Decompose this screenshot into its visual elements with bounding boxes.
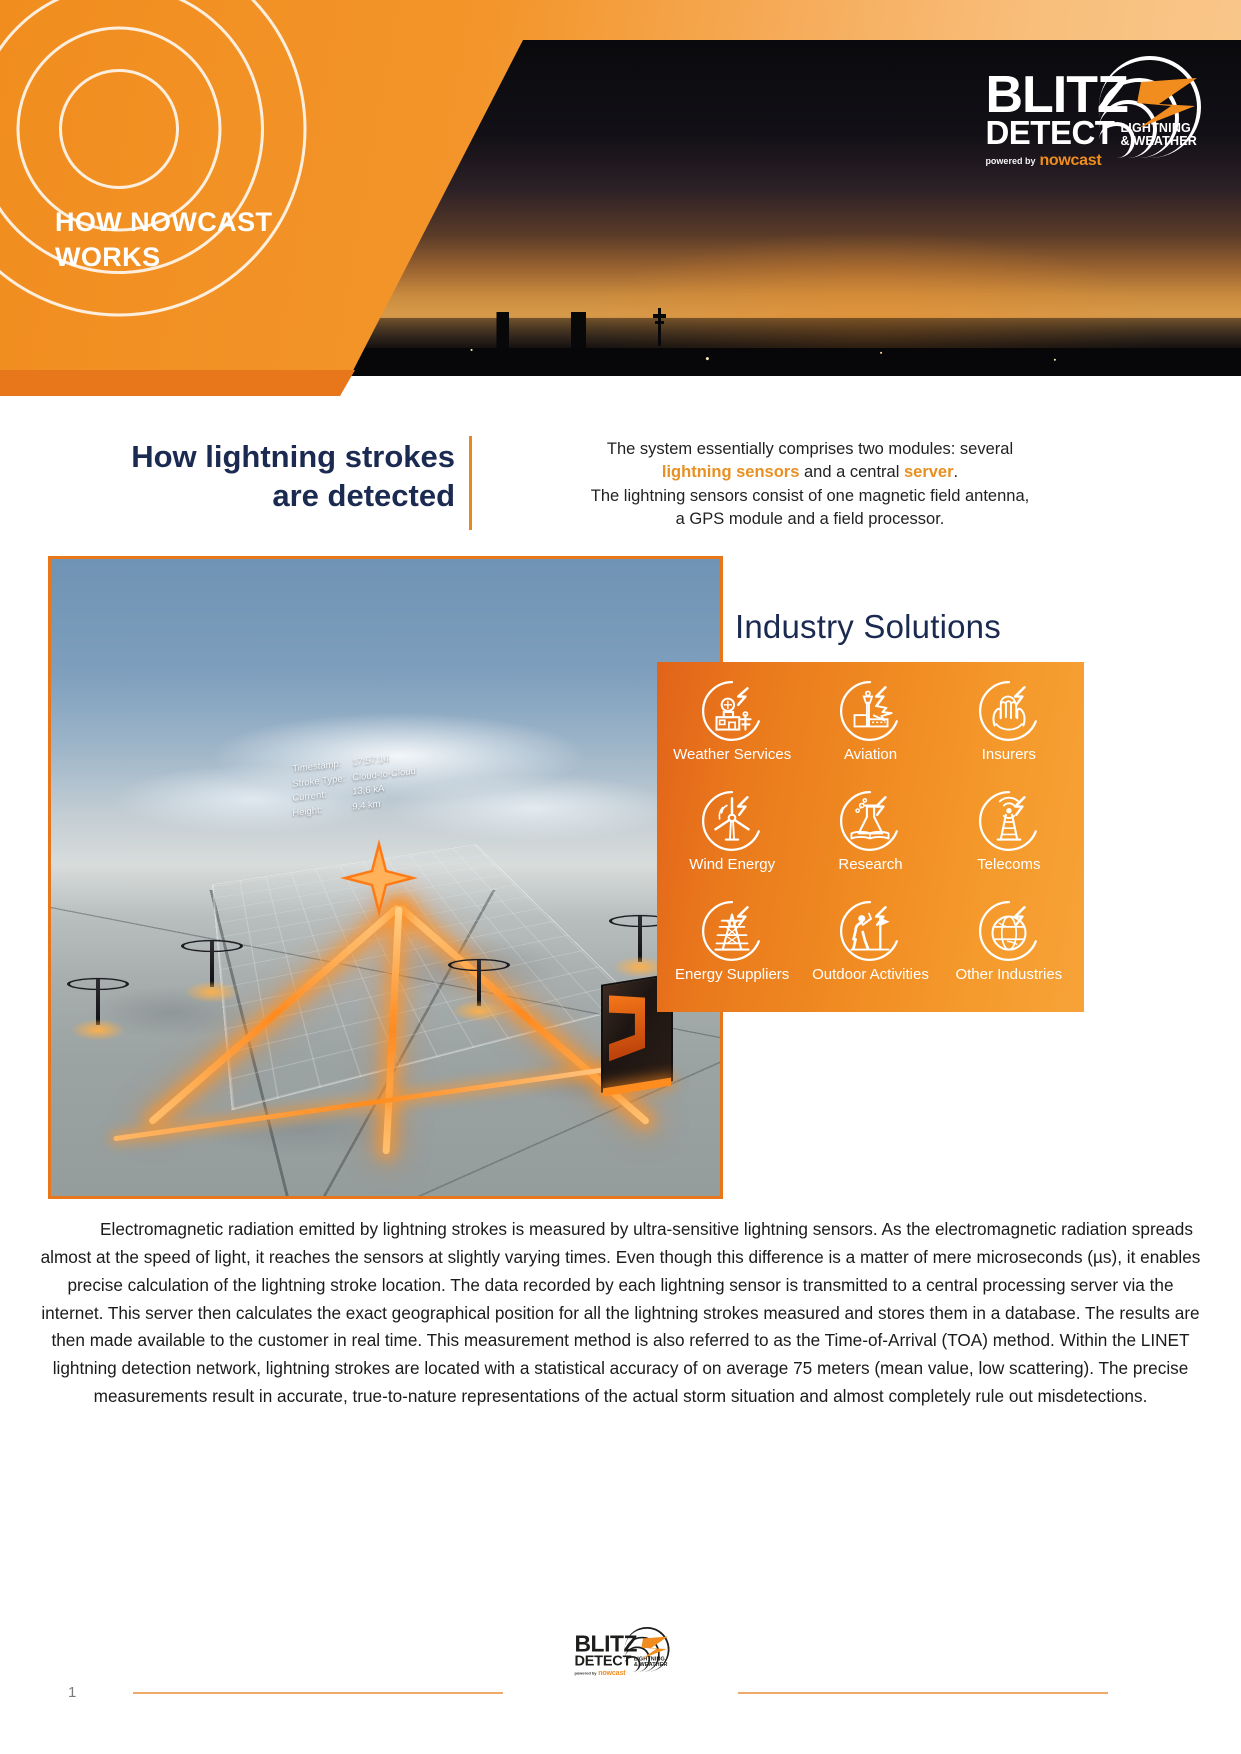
industry-item-research[interactable]: Research xyxy=(801,788,939,892)
brand-logo-header: BLITZ DETECT LIGHTNING & WEATHER powered… xyxy=(985,72,1197,170)
logo-powered-by: powered by nowcast xyxy=(985,152,1197,170)
globe-icon xyxy=(976,898,1042,964)
industry-item-telecoms[interactable]: Telecoms xyxy=(940,788,1078,892)
body-paragraph-text: Electromagnetic radiation emitted by lig… xyxy=(41,1219,1201,1406)
golfer-icon xyxy=(837,898,903,964)
industry-label: Energy Suppliers xyxy=(675,967,789,984)
logo-lightning-z-icon xyxy=(1137,76,1199,130)
industry-label: Aviation xyxy=(844,747,897,764)
section-heading: How lightning strokes are detected xyxy=(55,438,455,516)
section-title-block: How lightning strokes are detected The s… xyxy=(0,430,1241,550)
industry-item-aviation[interactable]: Aviation xyxy=(801,678,939,782)
page-title: HOW NOWCAST WORKS xyxy=(55,205,475,274)
wind-turbine-icon xyxy=(699,788,765,854)
radio-mast-icon xyxy=(976,788,1042,854)
footer-rule-left xyxy=(133,1692,503,1694)
intro-highlight-server: server xyxy=(904,463,954,481)
control-tower-icon xyxy=(837,678,903,744)
industry-label: Weather Services xyxy=(673,747,791,764)
signal-arcs-icon xyxy=(0,0,334,344)
industry-item-other-industries[interactable]: Other Industries xyxy=(940,898,1078,1002)
document-page: HOW NOWCAST WORKS BLITZ DETECT LIGHTNING… xyxy=(0,0,1241,1754)
logo-nowcast-text: nowcast xyxy=(1039,152,1101,170)
weather-station-icon xyxy=(699,678,765,744)
industry-label: Wind Energy xyxy=(689,857,775,874)
vertical-divider xyxy=(469,436,472,530)
logo-powered-prefix: powered by xyxy=(574,1671,596,1675)
lightning-stroke-star-icon xyxy=(340,839,418,917)
intro-line-3: The lightning sensors consist of one mag… xyxy=(591,487,1029,505)
intro-line-4: a GPS module and a field processor. xyxy=(676,510,945,528)
industry-item-weather-services[interactable]: Weather Services xyxy=(663,678,801,782)
hands-shield-icon xyxy=(976,678,1042,744)
intro-highlight-sensors: lightning sensors xyxy=(662,463,800,481)
logo-tagline-line2: & WEATHER xyxy=(1120,135,1197,149)
power-pylon-icon xyxy=(699,898,765,964)
footer-rule-right xyxy=(738,1692,1108,1694)
flask-book-icon xyxy=(837,788,903,854)
page-number: 1 xyxy=(68,1684,76,1701)
lightning-detection-illustration: Timestamp: 17:57:14 Stroke Type: Cloud-t… xyxy=(48,556,723,1199)
industry-label: Research xyxy=(838,857,902,874)
intro-line-2-mid: and a central xyxy=(799,463,904,481)
page-header: HOW NOWCAST WORKS BLITZ DETECT LIGHTNING… xyxy=(0,0,1241,396)
intro-line-2-end: . xyxy=(954,463,959,481)
industry-item-outdoor-activities[interactable]: Outdoor Activities xyxy=(801,898,939,1002)
section-intro-text: The system essentially comprises two mod… xyxy=(500,438,1120,532)
logo-tagline-line2: & WEATHER xyxy=(633,1662,667,1668)
industry-item-energy-suppliers[interactable]: Energy Suppliers xyxy=(663,898,801,1002)
industry-item-insurers[interactable]: Insurers xyxy=(940,678,1078,782)
logo-nowcast-text: nowcast xyxy=(598,1669,625,1677)
industry-label: Insurers xyxy=(982,747,1036,764)
logo-powered-prefix: powered by xyxy=(985,156,1035,166)
logo-lightning-z-icon xyxy=(641,1636,668,1660)
body-paragraph: Electromagnetic radiation emitted by lig… xyxy=(40,1216,1201,1411)
industry-label: Outdoor Activities xyxy=(812,967,929,984)
industry-label: Telecoms xyxy=(977,857,1040,874)
intro-line-1: The system essentially comprises two mod… xyxy=(607,440,1013,458)
industry-label: Other Industries xyxy=(955,967,1062,984)
industry-item-wind-energy[interactable]: Wind Energy xyxy=(663,788,801,892)
industry-solutions-title: Industry Solutions xyxy=(735,608,1095,646)
industry-solutions-panel: Weather Services Aviation xyxy=(657,662,1084,1012)
logo-powered-by: powered by nowcast xyxy=(574,1669,667,1677)
brand-logo-footer: BLITZ DETECT LIGHTNING & WEATHER powered… xyxy=(574,1634,667,1677)
page-footer: 1 BLITZ DETECT LIGHTNING & WEATHER xyxy=(0,1640,1241,1754)
broadcast-tower-silhouette xyxy=(658,308,661,346)
